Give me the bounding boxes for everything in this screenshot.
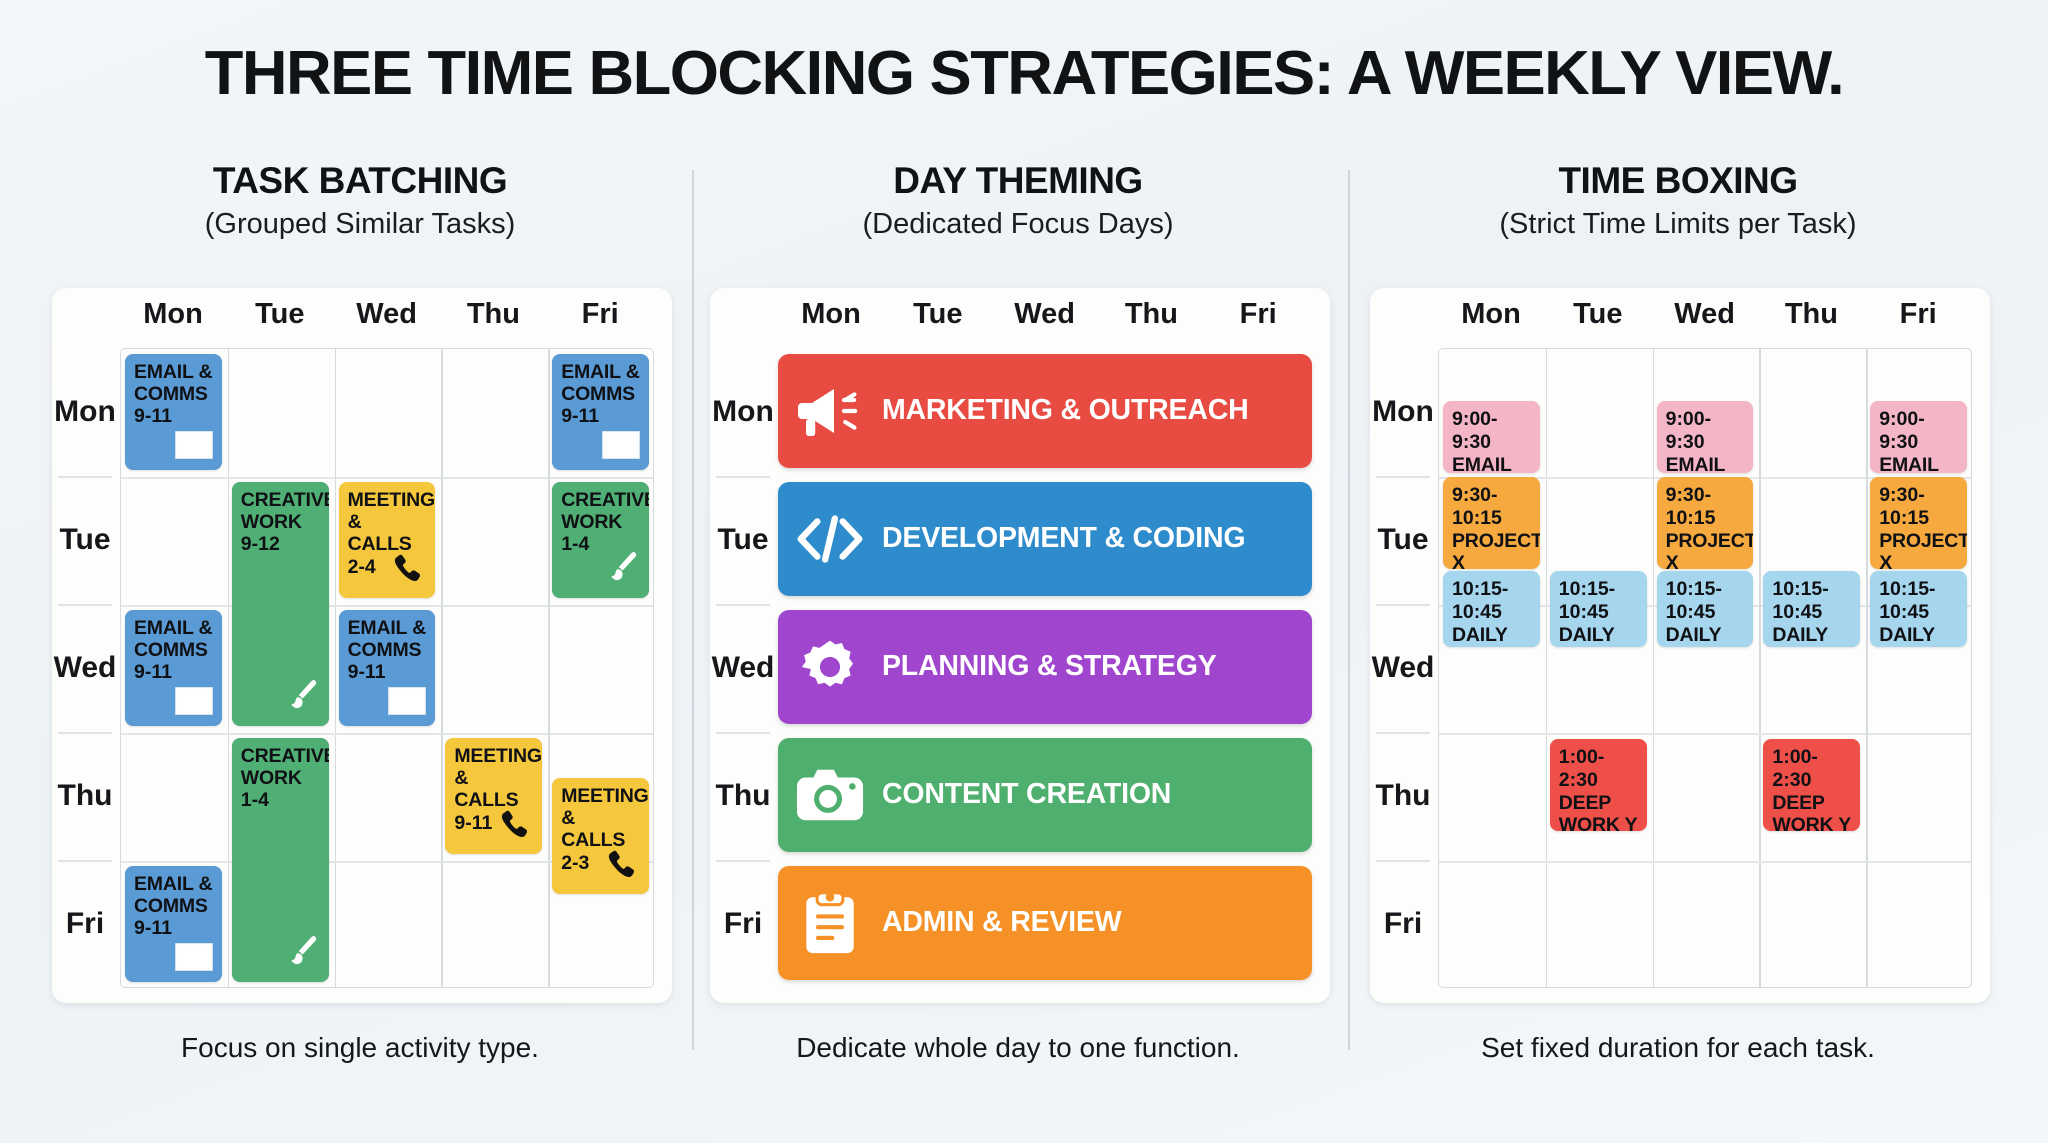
panel-day-theming: DAY THEMING (Dedicated Focus Days) MonTu… xyxy=(688,160,1348,1100)
row-separator xyxy=(716,732,770,734)
event-time: 9:00-9:30 xyxy=(1879,408,1959,454)
phone-icon xyxy=(389,550,427,593)
panel-caption: Dedicate whole day to one function. xyxy=(688,1032,1348,1064)
event-label: CREATIVEWORK xyxy=(241,745,321,789)
envelope-icon xyxy=(601,430,641,465)
panel-header: DAY THEMING (Dedicated Focus Days) xyxy=(688,160,1348,241)
day-header-thu: Thu xyxy=(1098,298,1204,331)
event-time: 1-4 xyxy=(241,789,321,812)
event-block[interactable]: 10:15-10:45DAILYSCRUM xyxy=(1870,571,1967,647)
grid-hline xyxy=(1439,861,1971,863)
clipboard-icon xyxy=(778,890,882,956)
row-label-wed: Wed xyxy=(710,604,776,732)
grid-vline xyxy=(335,349,337,987)
panel-caption: Focus on single activity type. xyxy=(30,1032,690,1064)
event-label: EMAIL xyxy=(1666,454,1746,473)
event-block[interactable]: 9:00-9:30EMAIL xyxy=(1657,401,1754,473)
grid-vline xyxy=(1546,349,1548,987)
row-label-tue: Tue xyxy=(1370,476,1436,604)
panel-subtitle: (Grouped Similar Tasks) xyxy=(30,208,690,241)
event-time: 9:00-9:30 xyxy=(1666,408,1746,454)
row-separator xyxy=(1376,476,1430,478)
event-block[interactable]: 1:00-2:30DEEPWORK Y xyxy=(1550,739,1647,831)
day-header-mon: Mon xyxy=(778,298,884,331)
row-separator xyxy=(58,732,112,734)
event-block[interactable]: 9:30-10:15PROJECTX xyxy=(1657,477,1754,569)
paintbrush-icon xyxy=(281,676,321,721)
row-separator xyxy=(716,476,770,478)
envelope-icon xyxy=(174,430,214,465)
event-label: PROJECTX xyxy=(1666,530,1746,569)
panel-header: TIME BOXING (Strict Time Limits per Task… xyxy=(1348,160,2008,241)
event-label: DAILYSCRUM xyxy=(1772,624,1852,647)
grid-hline xyxy=(121,733,653,735)
event-block[interactable]: MEETINGS& CALLS2-3 xyxy=(552,778,649,894)
megaphone-icon xyxy=(778,381,882,441)
gear-icon xyxy=(778,636,882,698)
day-header-tue: Tue xyxy=(885,298,991,331)
envelope-icon xyxy=(174,686,214,721)
event-label: MEETINGS& CALLS xyxy=(348,489,428,556)
event-time: 10:15-10:45 xyxy=(1772,578,1852,624)
calendar-card: MonTueWedThuFri MonTueWedThuFri MARKETIN… xyxy=(710,288,1330,1003)
event-block[interactable]: MEETINGS& CALLS2-4 xyxy=(339,482,436,598)
event-time: 10:15-10:45 xyxy=(1879,578,1959,624)
event-label: EMAIL xyxy=(1452,454,1532,473)
theme-bar[interactable]: PLANNING & STRATEGY xyxy=(778,610,1312,724)
row-separator xyxy=(716,604,770,606)
event-block[interactable]: 10:15-10:45DAILYSCRUM xyxy=(1657,571,1754,647)
row-separator xyxy=(1376,732,1430,734)
panel-title: TIME BOXING xyxy=(1348,160,2008,202)
event-label: CREATIVEWORK xyxy=(241,489,321,533)
row-label-mon: Mon xyxy=(710,348,776,476)
event-block[interactable]: EMAIL &COMMS9-11 xyxy=(339,610,436,726)
panel-subtitle: (Dedicated Focus Days) xyxy=(688,208,1348,241)
event-block[interactable]: 9:30-10:15PROJECTX xyxy=(1870,477,1967,569)
grid-hline xyxy=(1439,733,1971,735)
event-block[interactable]: 9:30-10:15PROJECTX xyxy=(1443,477,1540,569)
row-label-column: MonTueWedThuFri xyxy=(1370,348,1436,988)
panel-title: DAY THEMING xyxy=(688,160,1348,202)
event-block[interactable]: EMAIL &COMMS9-11 xyxy=(125,610,222,726)
event-time: 9-11 xyxy=(134,917,214,940)
row-label-column: MonTueWedThuFri xyxy=(710,348,776,988)
theme-bar-label: ADMIN & REVIEW xyxy=(882,906,1121,939)
row-label-thu: Thu xyxy=(52,732,118,860)
day-header-row: MonTueWedThuFri xyxy=(710,298,1330,342)
infographic-root: THREE TIME BLOCKING STRATEGIES: A WEEKLY… xyxy=(0,0,2048,1143)
event-label: CREATIVEWORK xyxy=(561,489,641,533)
theme-bar[interactable]: MARKETING & OUTREACH xyxy=(778,354,1312,468)
calendar-card: MonTueWedThuFri MonTueWedThuFri EMAIL &C… xyxy=(52,288,672,1003)
grid-vline xyxy=(1866,349,1868,987)
row-label-fri: Fri xyxy=(52,860,118,988)
code-icon xyxy=(778,511,882,567)
event-label: DAILYSCRUM xyxy=(1666,624,1746,647)
theme-bar-label: CONTENT CREATION xyxy=(882,778,1171,811)
theme-bar-label: PLANNING & STRATEGY xyxy=(882,650,1217,683)
event-block[interactable]: CREATIVEWORK1-4 xyxy=(232,738,329,982)
event-block[interactable]: 10:15-10:45DAILYSCRUM xyxy=(1763,571,1860,647)
page-title: THREE TIME BLOCKING STRATEGIES: A WEEKLY… xyxy=(0,38,2048,109)
grid-vline xyxy=(1759,349,1761,987)
grid-hline xyxy=(121,477,653,479)
event-label: DEEPWORK Y xyxy=(1559,792,1639,831)
event-time: 9-11 xyxy=(134,661,214,684)
event-label: MEETINGS& CALLS xyxy=(561,785,641,852)
row-label-column: MonTueWedThuFri xyxy=(52,348,118,988)
event-block[interactable]: 10:15-10:45DAILYSCRUM xyxy=(1550,571,1647,647)
row-separator xyxy=(58,604,112,606)
grid-vline xyxy=(548,349,550,987)
event-block[interactable]: 9:00-9:30EMAIL xyxy=(1870,401,1967,473)
day-header-wed: Wed xyxy=(992,298,1098,331)
phone-icon xyxy=(496,806,534,849)
camera-icon xyxy=(778,767,882,823)
grid-hline xyxy=(121,605,653,607)
event-block[interactable]: CREATIVEWORK9-12 xyxy=(232,482,329,726)
theme-bar[interactable]: CONTENT CREATION xyxy=(778,738,1312,852)
day-header-tue: Tue xyxy=(227,298,333,331)
event-time: 9-11 xyxy=(561,405,641,428)
panel-time-boxing: TIME BOXING (Strict Time Limits per Task… xyxy=(1348,160,2008,1100)
event-label: DEEPWORK Y xyxy=(1772,792,1852,831)
row-label-fri: Fri xyxy=(710,860,776,988)
event-time: 10:15-10:45 xyxy=(1559,578,1639,624)
grid-vline xyxy=(1653,349,1655,987)
row-label-tue: Tue xyxy=(52,476,118,604)
day-header-thu: Thu xyxy=(440,298,546,331)
event-time: 9-11 xyxy=(348,661,428,684)
event-block[interactable]: EMAIL &COMMS9-11 xyxy=(552,354,649,470)
event-label: EMAIL &COMMS xyxy=(561,361,641,405)
theme-bar[interactable]: DEVELOPMENT & CODING xyxy=(778,482,1312,596)
row-label-wed: Wed xyxy=(52,604,118,732)
event-block[interactable]: CREATIVEWORK1-4 xyxy=(552,482,649,598)
panel-subtitle: (Strict Time Limits per Task) xyxy=(1348,208,2008,241)
row-label-mon: Mon xyxy=(52,348,118,476)
row-label-wed: Wed xyxy=(1370,604,1436,732)
row-separator xyxy=(1376,604,1430,606)
event-label: DAILYSCRUM xyxy=(1559,624,1639,647)
grid-vline xyxy=(441,349,443,987)
row-separator xyxy=(58,860,112,862)
calendar-grid: EMAIL &COMMS9-11EMAIL &COMMS9-11CREATIVE… xyxy=(120,348,654,988)
row-label-tue: Tue xyxy=(710,476,776,604)
event-time: 9:00-9:30 xyxy=(1452,408,1532,454)
event-time: 9:30-10:15 xyxy=(1452,484,1532,530)
day-header-tue: Tue xyxy=(1545,298,1651,331)
panel-task-batching: TASK BATCHING (Grouped Similar Tasks) Mo… xyxy=(30,160,690,1100)
event-block[interactable]: EMAIL &COMMS9-11 xyxy=(125,866,222,982)
event-time: 9:30-10:15 xyxy=(1666,484,1746,530)
event-label: PROJECTX xyxy=(1879,530,1959,569)
event-block[interactable]: MEETINGS& CALLS9-11 xyxy=(445,738,542,854)
event-block[interactable]: EMAIL &COMMS9-11 xyxy=(125,354,222,470)
event-time: 10:15-10:45 xyxy=(1666,578,1746,624)
event-block[interactable]: 10:15-10:45DAILYSCRUM xyxy=(1443,571,1540,647)
event-label: DAILYSCRUM xyxy=(1452,624,1532,647)
theme-bar-label: DEVELOPMENT & CODING xyxy=(882,522,1245,555)
row-separator xyxy=(716,860,770,862)
day-header-fri: Fri xyxy=(547,298,653,331)
theme-bar-label: MARKETING & OUTREACH xyxy=(882,394,1249,427)
day-header-mon: Mon xyxy=(1438,298,1544,331)
row-separator xyxy=(58,476,112,478)
day-header-row: MonTueWedThuFri xyxy=(52,298,672,342)
event-time: 9-12 xyxy=(241,533,321,556)
event-label: DAILYSCRUM xyxy=(1879,624,1959,647)
event-time: 1:00-2:30 xyxy=(1772,746,1852,792)
day-header-fri: Fri xyxy=(1865,298,1971,331)
event-time: 10:15-10:45 xyxy=(1452,578,1532,624)
panel-title: TASK BATCHING xyxy=(30,160,690,202)
row-label-thu: Thu xyxy=(710,732,776,860)
event-label: MEETINGS& CALLS xyxy=(454,745,534,812)
theme-bar[interactable]: ADMIN & REVIEW xyxy=(778,866,1312,980)
event-label: EMAIL xyxy=(1879,454,1959,473)
day-header-wed: Wed xyxy=(1652,298,1758,331)
event-label: EMAIL &COMMS xyxy=(134,873,214,917)
day-header-wed: Wed xyxy=(334,298,440,331)
phone-icon xyxy=(603,846,641,889)
panel-header: TASK BATCHING (Grouped Similar Tasks) xyxy=(30,160,690,241)
panel-caption: Set fixed duration for each task. xyxy=(1348,1032,2008,1064)
day-header-fri: Fri xyxy=(1205,298,1311,331)
day-header-row: MonTueWedThuFri xyxy=(1370,298,1990,342)
paintbrush-icon xyxy=(281,932,321,977)
row-label-mon: Mon xyxy=(1370,348,1436,476)
row-separator xyxy=(1376,860,1430,862)
row-label-fri: Fri xyxy=(1370,860,1436,988)
event-time: 1:00-2:30 xyxy=(1559,746,1639,792)
calendar-card: MonTueWedThuFri MonTueWedThuFri 9:00-9:3… xyxy=(1370,288,1990,1003)
envelope-icon xyxy=(387,686,427,721)
grid-vline xyxy=(228,349,230,987)
theme-bar-stack: MARKETING & OUTREACHDEVELOPMENT & CODING… xyxy=(778,348,1312,988)
calendar-grid: 9:00-9:30EMAIL9:00-9:30EMAIL9:00-9:30EMA… xyxy=(1438,348,1972,988)
envelope-icon xyxy=(174,942,214,977)
event-label: EMAIL &COMMS xyxy=(134,617,214,661)
day-header-mon: Mon xyxy=(120,298,226,331)
event-time: 9-11 xyxy=(134,405,214,428)
event-label: EMAIL &COMMS xyxy=(134,361,214,405)
row-label-thu: Thu xyxy=(1370,732,1436,860)
event-time: 9:30-10:15 xyxy=(1879,484,1959,530)
paintbrush-icon xyxy=(601,548,641,593)
event-block[interactable]: 9:00-9:30EMAIL xyxy=(1443,401,1540,473)
day-header-thu: Thu xyxy=(1758,298,1864,331)
event-label: PROJECTX xyxy=(1452,530,1532,569)
event-block[interactable]: 1:00-2:30DEEPWORK Y xyxy=(1763,739,1860,831)
event-label: EMAIL &COMMS xyxy=(348,617,428,661)
